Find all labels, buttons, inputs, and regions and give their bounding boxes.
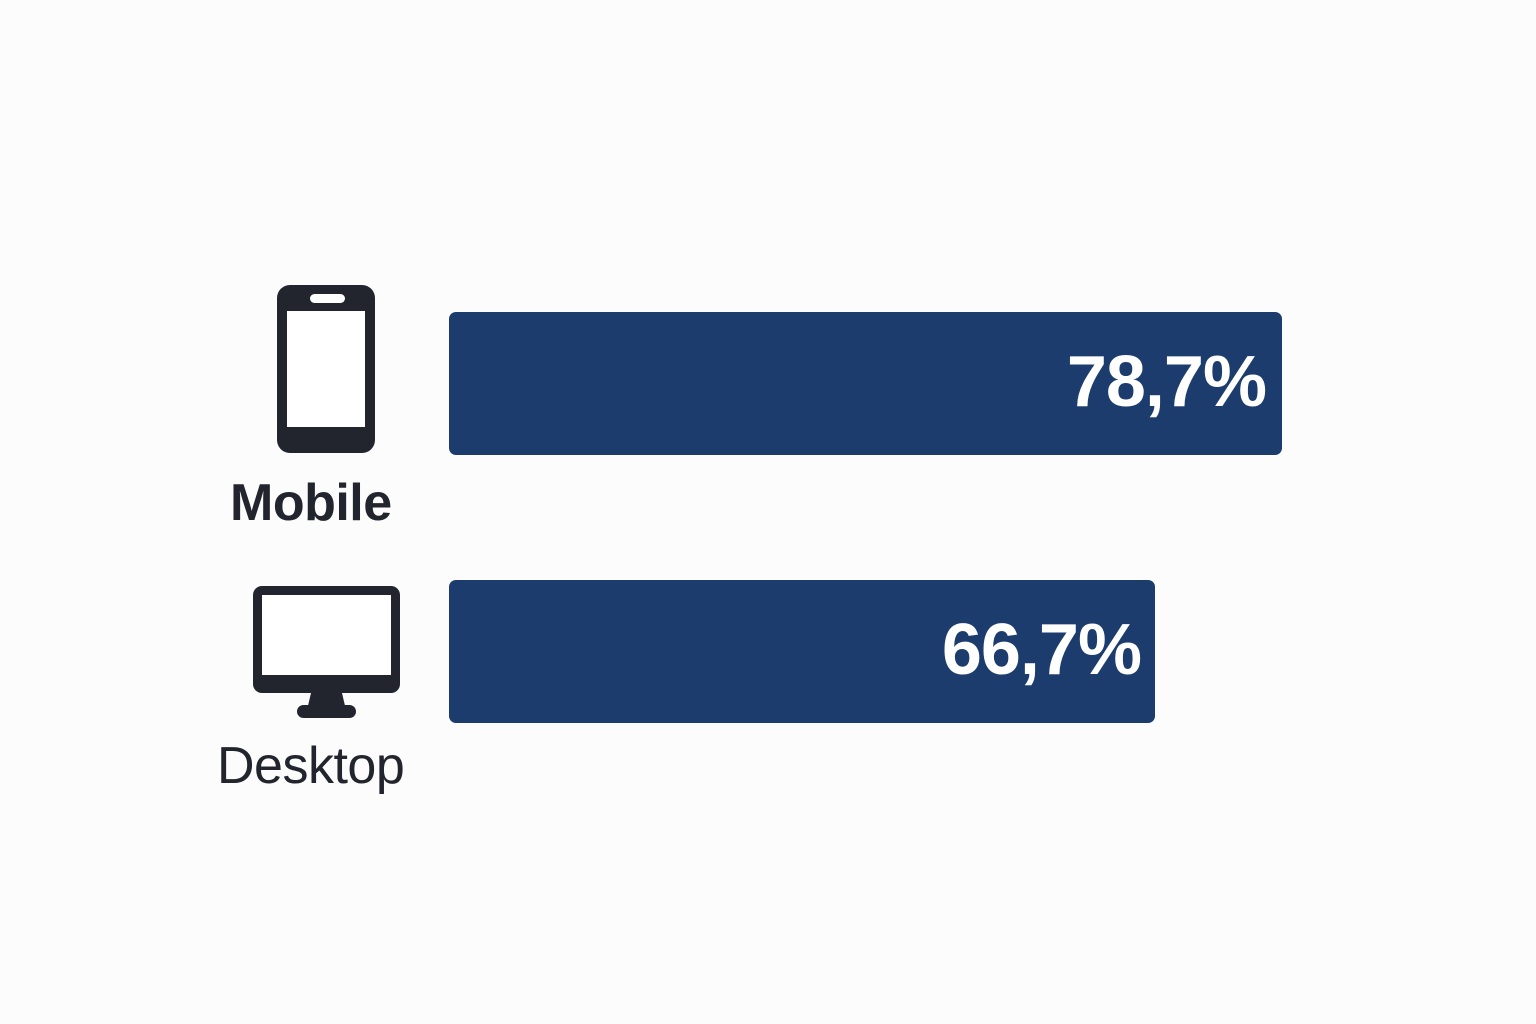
bar-mobile: 78,7% (449, 312, 1282, 455)
desktop-monitor-icon (253, 586, 400, 722)
bar-value-label-desktop: 66,7% (942, 614, 1141, 686)
desktop-icon-cluster: Desktop (0, 580, 449, 805)
mobile-phone-icon (277, 285, 375, 453)
bar-value-label-mobile: 78,7% (1067, 346, 1266, 418)
chart-row-desktop: Desktop 66,7% (0, 580, 1536, 805)
mobile-icon-cluster: Mobile (0, 278, 449, 538)
chart-row-mobile: Mobile 78,7% (0, 278, 1536, 538)
device-label-mobile: Mobile (230, 477, 392, 529)
device-label-desktop: Desktop (217, 740, 404, 792)
bar-desktop: 66,7% (449, 580, 1155, 723)
device-share-bar-chart: Mobile 78,7% Desktop 66,7% (0, 0, 1536, 1024)
